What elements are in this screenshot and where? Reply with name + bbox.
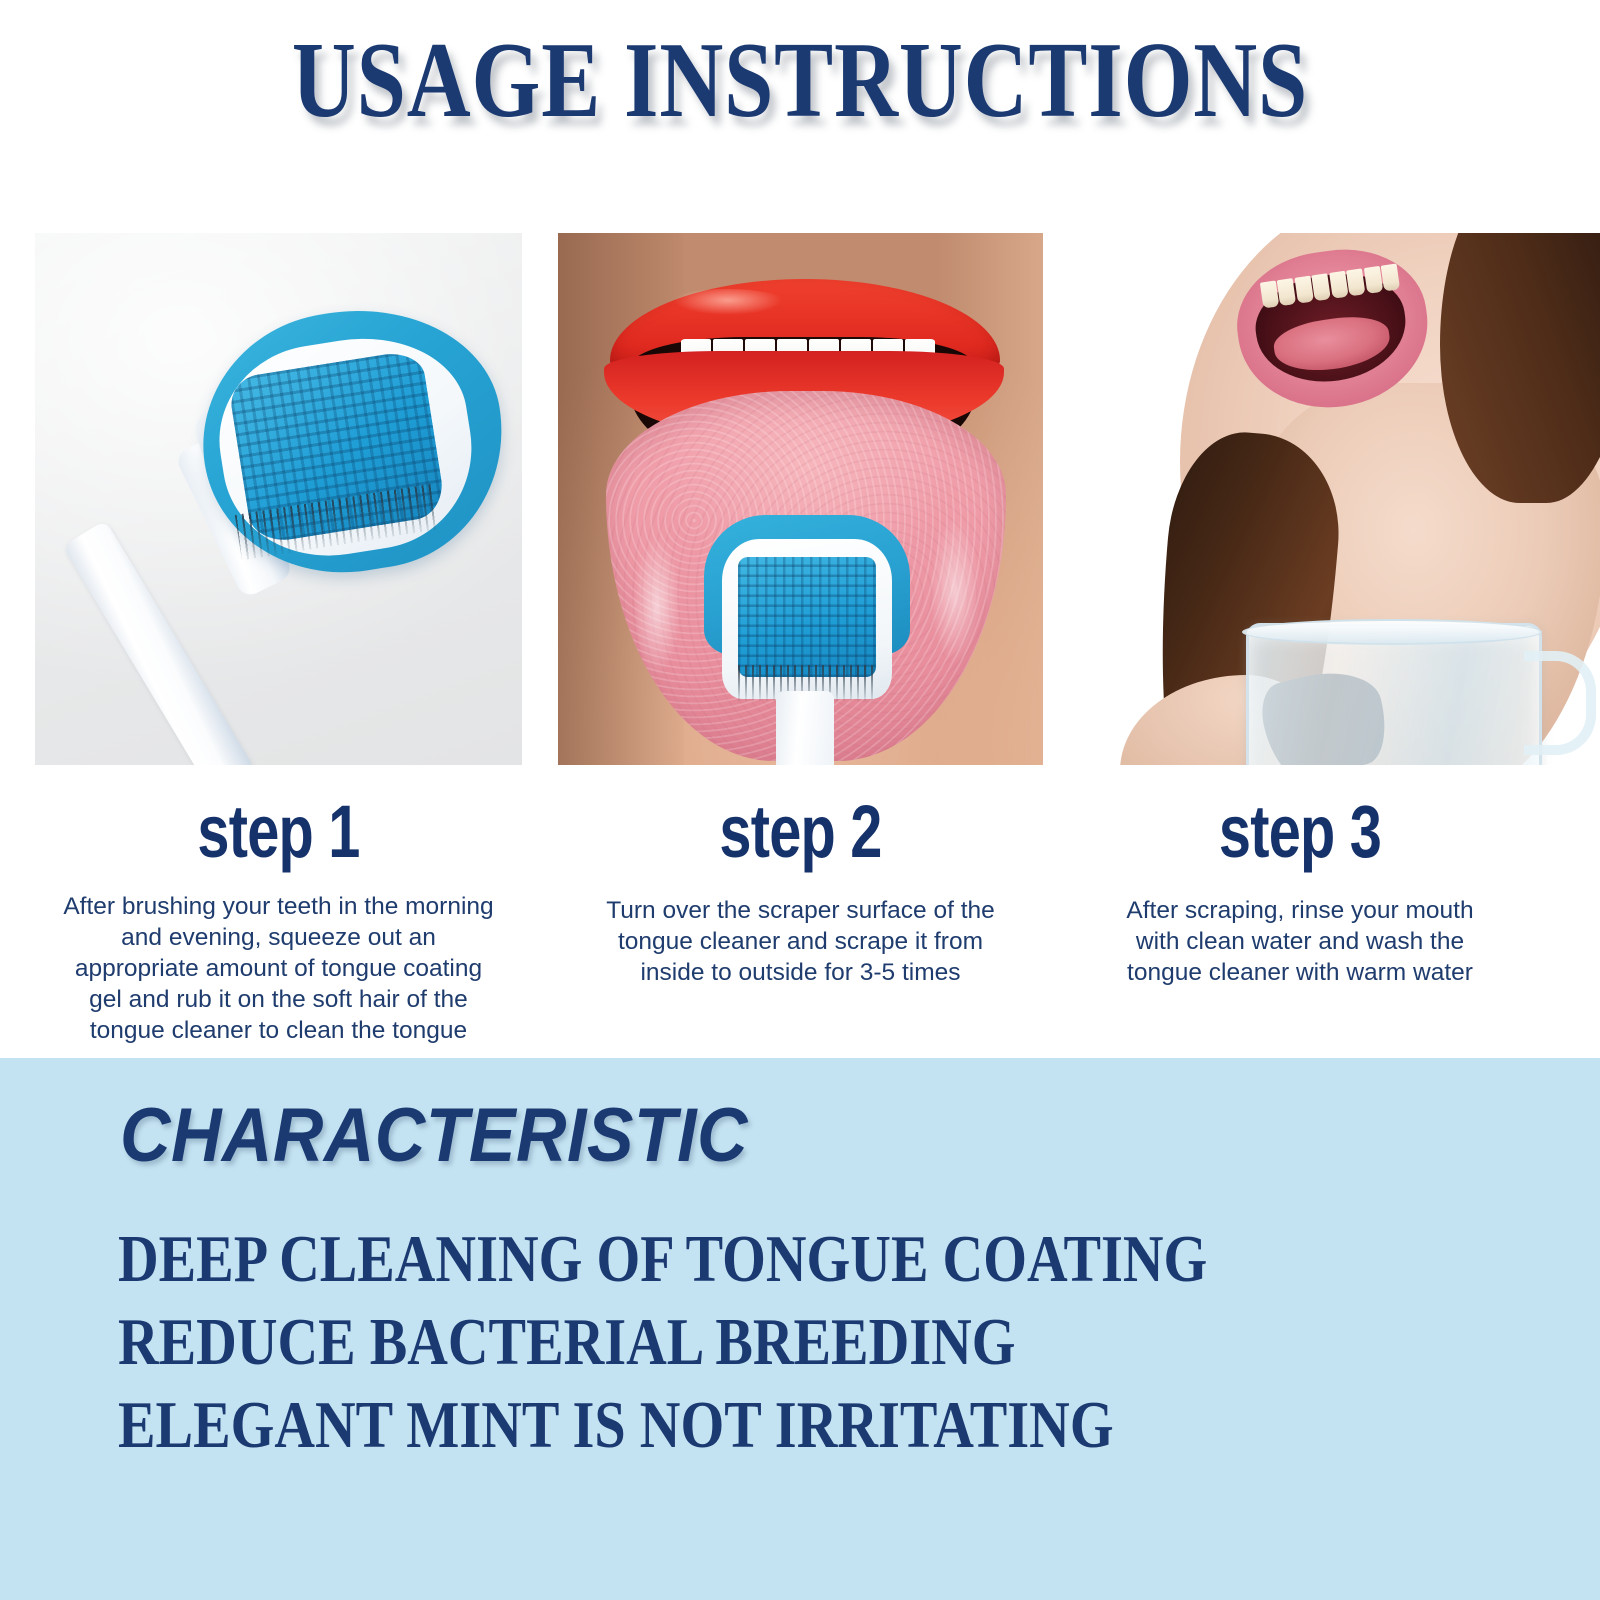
tongue-highlight-left bbox=[624, 511, 690, 701]
water-glass-handle bbox=[1524, 651, 1596, 755]
step-card-3: step 3 After scraping, rinse your mouth … bbox=[1060, 233, 1600, 1023]
handle-stem bbox=[776, 691, 834, 765]
page-title: USAGE INSTRUCTIONS bbox=[144, 24, 1456, 137]
tongue-cleaner-illustration bbox=[53, 293, 513, 765]
step-2-body: Turn over the scraper surface of the ton… bbox=[558, 895, 1043, 988]
feature-item: DEEP CLEANING OF TONGUE COATING bbox=[118, 1218, 1294, 1301]
step-card-1: step 1 After brushing your teeth in the … bbox=[35, 233, 522, 1023]
feature-list: DEEP CLEANING OF TONGUE COATING REDUCE B… bbox=[118, 1218, 1518, 1467]
tongue-cleaner-on-tongue bbox=[704, 515, 916, 765]
feature-item: ELEGANT MINT IS NOT IRRITATING bbox=[118, 1384, 1294, 1467]
step-2-photo bbox=[558, 233, 1043, 765]
step-3-body: After scraping, rinse your mouth with cl… bbox=[1060, 895, 1600, 988]
characteristic-title: CHARACTERISTIC bbox=[120, 1098, 748, 1174]
characteristic-section: CHARACTERISTIC DEEP CLEANING OF TONGUE C… bbox=[0, 1058, 1600, 1600]
silicone-bristle-pad bbox=[738, 557, 876, 677]
usage-instructions-section: USAGE INSTRUCTIONS step 1 After brushing… bbox=[0, 0, 1600, 1058]
step-card-2: step 2 Turn over the scraper surface of … bbox=[558, 233, 1043, 1023]
water-glass-rim bbox=[1242, 619, 1542, 645]
tongue-highlight-right bbox=[920, 491, 990, 691]
step-1-photo bbox=[35, 233, 522, 765]
steps-row: step 1 After brushing your teeth in the … bbox=[0, 233, 1600, 1023]
step-1-body: After brushing your teeth in the morning… bbox=[35, 891, 522, 1047]
upper-lip-highlight bbox=[668, 289, 788, 317]
step-2-heading: step 2 bbox=[611, 795, 989, 869]
step-3-photo bbox=[1060, 233, 1600, 765]
step-1-heading: step 1 bbox=[89, 795, 469, 869]
feature-item: REDUCE BACTERIAL BREEDING bbox=[118, 1301, 1294, 1384]
step-3-heading: step 3 bbox=[1066, 795, 1534, 869]
